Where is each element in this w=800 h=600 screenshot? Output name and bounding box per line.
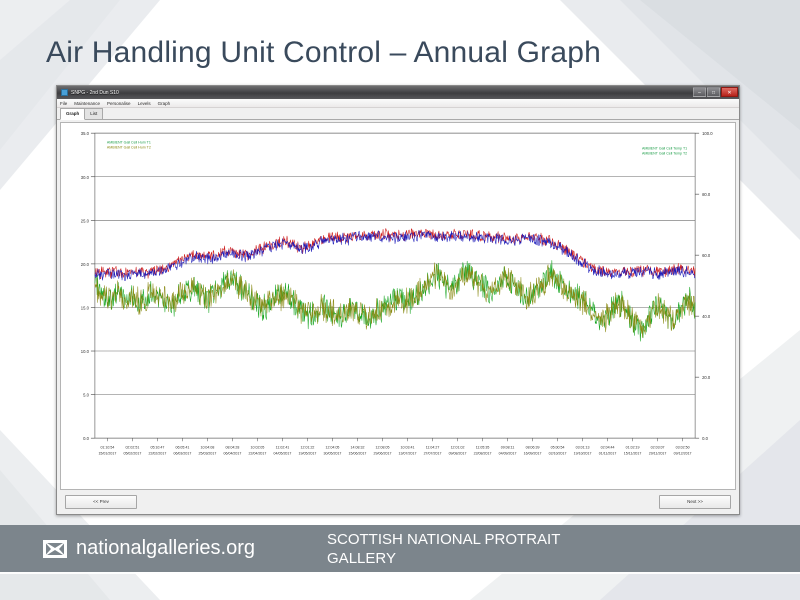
svg-text:10:03:41: 10:03:41 [401,445,415,449]
brand-name: nationalgalleries.org [76,537,255,560]
svg-text:22/08/2017: 22/08/2017 [474,451,492,455]
svg-text:01:10:54: 01:10:54 [100,445,114,449]
svg-text:05/02/2017: 05/02/2017 [123,451,141,455]
svg-text:08:04:28: 08:04:28 [225,445,239,449]
svg-text:09:08:11: 09:08:11 [501,445,515,449]
svg-text:13/07/2017: 13/07/2017 [399,451,417,455]
svg-text:35.0: 35.0 [81,131,90,136]
tab-graph[interactable]: Graph [60,108,85,120]
svg-text:25/03/2017: 25/03/2017 [198,451,216,455]
application-window: SNPG - 2nd Dun S10 – □ ✕ File Maintenanc… [56,85,740,515]
svg-text:11:04:27: 11:04:27 [426,445,440,449]
chart-pane[interactable]: 35.030.025.020.015.010.05.00.0 100.080.0… [60,122,736,490]
footer-divider [0,572,800,574]
svg-text:02:03:07: 02:03:07 [651,445,665,449]
svg-text:04/05/2017: 04/05/2017 [274,451,292,455]
next-button[interactable]: Next >> [659,495,731,509]
svg-text:25.0: 25.0 [81,218,90,223]
menu-item-maintenance[interactable]: Maintenance [74,101,100,106]
gallery-name: SCOTTISH NATIONAL PROTRAIT GALLERY [327,530,627,568]
svg-text:15/11/2017: 15/11/2017 [624,451,642,455]
menu-item-graph[interactable]: Graph [158,101,171,106]
tab-strip: Graph List [57,108,739,120]
svg-text:03:02:50: 03:02:50 [676,445,690,449]
svg-text:08:06:39: 08:06:39 [526,445,540,449]
svg-text:20.0: 20.0 [81,262,90,267]
close-button[interactable]: ✕ [721,87,738,97]
svg-text:04/09/2017: 04/09/2017 [499,451,517,455]
menu-item-file[interactable]: File [60,101,67,106]
footer-bar: nationalgalleries.org SCOTTISH NATIONAL … [0,525,800,572]
legend-right: AMBIENT Gall Cell Temp T1AMBIENT Gall Ce… [642,146,687,155]
svg-text:06/04/2017: 06/04/2017 [223,451,241,455]
svg-text:10:02:05: 10:02:05 [250,445,264,449]
page-title: Air Handling Unit Control – Annual Graph [46,36,601,70]
svg-text:12:04:05: 12:04:05 [326,445,340,449]
minimize-button[interactable]: – [693,87,706,97]
legend-label: AMBIENT Gall Cell Temp T1 [642,146,687,150]
window-titlebar[interactable]: SNPG - 2nd Dun S10 – □ ✕ [57,86,739,99]
svg-text:20.0: 20.0 [702,375,711,380]
legend-left: AMBIENT Gall Cell Hum T1AMBIENT Gall Cel… [107,140,151,149]
svg-text:10.0: 10.0 [81,349,90,354]
svg-text:0.0: 0.0 [83,436,89,441]
svg-text:15/01/2017: 15/01/2017 [98,451,116,455]
svg-text:01/11/2017: 01/11/2017 [599,451,617,455]
svg-text:19/05/2017: 19/05/2017 [299,451,317,455]
svg-text:80.0: 80.0 [702,192,711,197]
svg-text:10:04:08: 10:04:08 [200,445,214,449]
svg-text:12:01:02: 12:01:02 [451,445,465,449]
frame-logo-icon [42,539,68,559]
legend-label: AMBIENT Gall Cell Hum T1 [107,140,151,144]
menu-item-levels[interactable]: Levels [138,101,151,106]
window-title: SNPG - 2nd Dun S10 [71,90,119,96]
svg-text:11:05:35: 11:05:35 [476,445,490,449]
svg-text:5.0: 5.0 [83,393,89,398]
svg-text:12:08:05: 12:08:05 [376,445,390,449]
trend-chart: 35.030.025.020.015.010.05.00.0 100.080.0… [61,123,735,489]
svg-text:06/03/2017: 06/03/2017 [173,451,191,455]
svg-text:27/07/2017: 27/07/2017 [424,451,442,455]
svg-text:03:01:13: 03:01:13 [576,445,590,449]
navigation-bar: << Prev Next >> [57,490,739,514]
svg-text:11:02:41: 11:02:41 [276,445,290,449]
svg-text:02:02:51: 02:02:51 [125,445,139,449]
svg-text:30.0: 30.0 [81,175,90,180]
prev-button[interactable]: << Prev [65,495,137,509]
tab-list[interactable]: List [84,108,103,119]
menu-bar: File Maintenance Personalise Levels Grap… [57,99,739,108]
svg-text:15/06/2017: 15/06/2017 [349,451,367,455]
legend-label: AMBIENT Gall Cell Temp T2 [642,151,687,155]
window-controls: – □ ✕ [693,87,738,97]
svg-text:29/06/2017: 29/06/2017 [374,451,392,455]
svg-text:0.0: 0.0 [702,436,708,441]
svg-text:100.0: 100.0 [702,131,713,136]
brand-lockup: nationalgalleries.org [42,537,255,560]
svg-text:29/11/2017: 29/11/2017 [649,451,667,455]
svg-text:05:00:54: 05:00:54 [551,445,565,449]
svg-text:09/12/2017: 09/12/2017 [674,451,692,455]
legend-label: AMBIENT Gall Cell Hum T2 [107,145,151,149]
menu-item-personalise[interactable]: Personalise [107,101,131,106]
svg-text:60.0: 60.0 [702,253,711,258]
svg-text:02:04:44: 02:04:44 [601,445,615,449]
app-icon [61,89,68,96]
svg-text:40.0: 40.0 [702,314,711,319]
svg-text:19/10/2017: 19/10/2017 [574,451,592,455]
maximize-button[interactable]: □ [707,87,720,97]
svg-text:30/05/2017: 30/05/2017 [324,451,342,455]
svg-text:09/08/2017: 09/08/2017 [449,451,467,455]
svg-text:12:01:22: 12:01:22 [301,445,315,449]
svg-text:22/04/2017: 22/04/2017 [249,451,267,455]
svg-text:06:05:41: 06:05:41 [175,445,189,449]
svg-text:16/09/2017: 16/09/2017 [524,451,542,455]
svg-text:22/02/2017: 22/02/2017 [148,451,166,455]
svg-text:05:10:47: 05:10:47 [150,445,164,449]
svg-text:14:08:32: 14:08:32 [351,445,365,449]
svg-text:15.0: 15.0 [81,305,90,310]
svg-text:01:02:19: 01:02:19 [626,445,640,449]
svg-text:02/10/2017: 02/10/2017 [549,451,567,455]
